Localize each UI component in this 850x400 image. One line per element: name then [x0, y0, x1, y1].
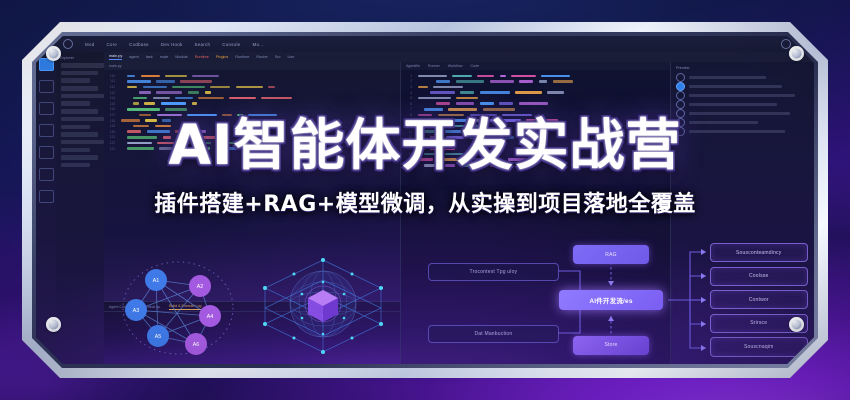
page-subtitle: 插件搭建+RAG+模型微调，从实操到项目落地全覆盖	[0, 186, 850, 218]
banner-stage: Mod Core Codbase Dev Hook Search Console…	[0, 0, 850, 400]
page-title: AI智能体开发实战营	[0, 118, 850, 173]
